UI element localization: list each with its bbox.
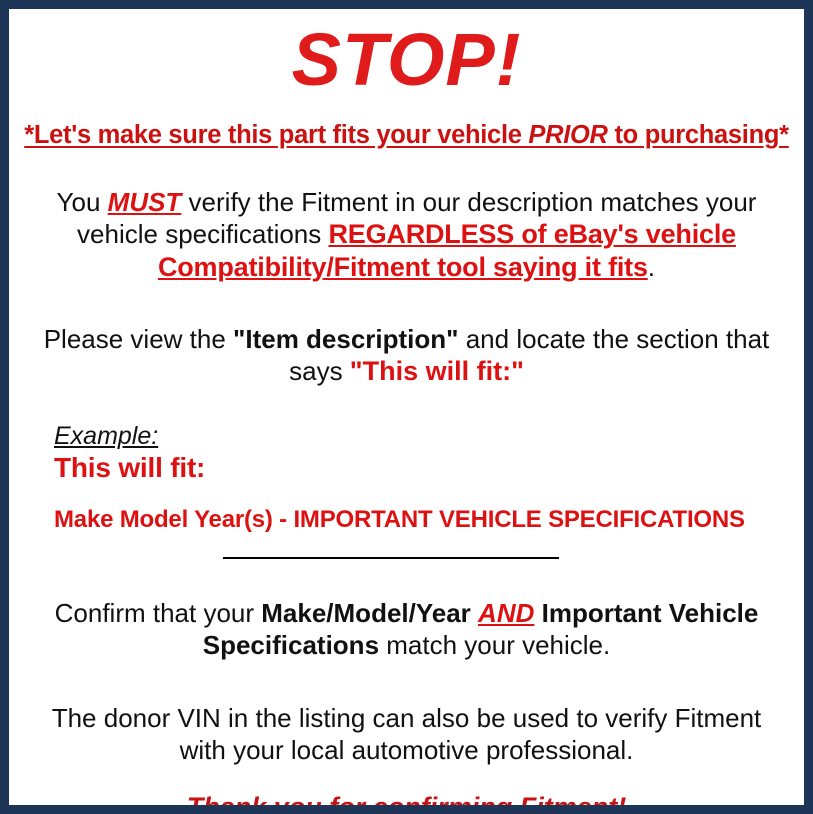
thank-you-line: Thank you for confirming Fitment! <box>9 791 804 805</box>
must-part-3: . <box>648 252 655 282</box>
fitment-notice-body: STOP! *Let's make sure this part fits yo… <box>9 9 804 805</box>
example-spec-line: Make Model Year(s) - IMPORTANT VEHICLE S… <box>54 506 804 534</box>
confirm-paragraph: Confirm that your Make/Model/Year AND Im… <box>26 598 788 661</box>
tagline-emphasis-prior: PRIOR <box>528 121 607 149</box>
confirm-part-2: match your vehicle. <box>379 630 610 660</box>
horizontal-divider <box>223 557 559 559</box>
please-view-paragraph: Please view the "Item description" and l… <box>26 324 788 388</box>
must-part-1: You <box>57 187 108 217</box>
make-model-year-label: Make/Model/Year <box>261 598 471 628</box>
item-description-label: "Item description" <box>233 324 458 354</box>
confirm-part-1: Confirm that your <box>55 598 262 628</box>
example-block: Example: This will fit: Make Model Year(… <box>9 422 804 535</box>
tagline-trail: to purchasing* <box>608 121 789 149</box>
example-label: Example: <box>54 422 804 451</box>
tagline-lead: *Let's make sure this part fits your veh… <box>24 121 528 149</box>
example-fit-heading: This will fit: <box>54 451 804 484</box>
donor-vin-paragraph: The donor VIN in the listing can also be… <box>26 703 788 766</box>
fitment-notice-frame: STOP! *Let's make sure this part fits yo… <box>0 0 813 814</box>
must-verify-paragraph: You MUST verify the Fitment in our descr… <box>26 187 788 284</box>
this-will-fit-quote: "This will fit:" <box>350 356 524 386</box>
please-part-1: Please view the <box>44 324 233 354</box>
and-keyword: AND <box>478 598 534 628</box>
stop-headline: STOP! <box>9 9 804 99</box>
must-keyword: MUST <box>108 187 182 217</box>
confirm-space-1 <box>471 598 478 628</box>
divider-wrap <box>9 557 804 571</box>
confirm-space-2 <box>534 598 541 628</box>
tagline: *Let's make sure this part fits your veh… <box>13 121 800 149</box>
